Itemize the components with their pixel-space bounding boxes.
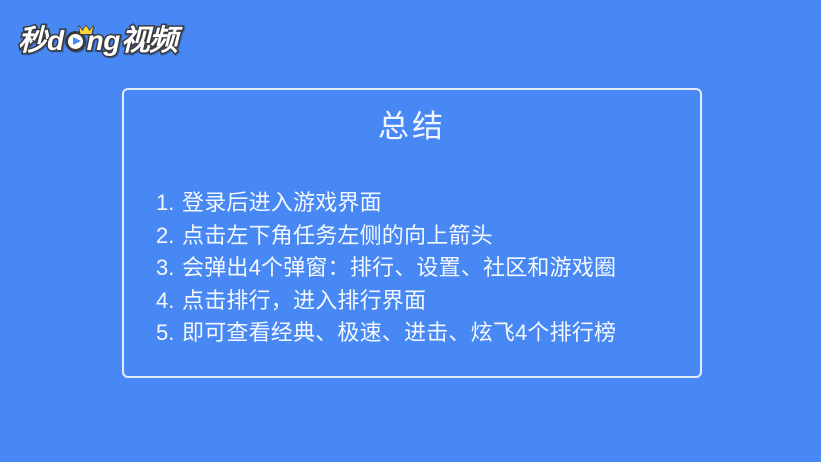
logo-chars-shipin: 视频 bbox=[121, 27, 177, 56]
brand-logo-text: 秒dng视频 bbox=[18, 27, 177, 56]
step-text: 点击排行，进入排行界面 bbox=[182, 285, 426, 318]
step-number: 3. bbox=[156, 252, 182, 285]
crown-icon bbox=[78, 25, 94, 37]
step-text: 登录后进入游戏界面 bbox=[182, 187, 382, 220]
step-text: 即可查看经典、极速、进击、炫飞4个排行榜 bbox=[182, 317, 616, 350]
summary-card: 总结 1. 登录后进入游戏界面 2. 点击左下角任务左侧的向上箭头 3. 会弹出… bbox=[122, 88, 702, 378]
step-number: 1. bbox=[156, 187, 182, 220]
list-item: 2. 点击左下角任务左侧的向上箭头 bbox=[156, 220, 690, 253]
steps-list: 1. 登录后进入游戏界面 2. 点击左下角任务左侧的向上箭头 3. 会弹出4个弹… bbox=[156, 187, 690, 350]
list-item: 4. 点击排行，进入排行界面 bbox=[156, 285, 690, 318]
brand-watermark: 秒dng视频 bbox=[18, 22, 177, 60]
step-text: 点击左下角任务左侧的向上箭头 bbox=[182, 220, 493, 253]
logo-letter-d: d bbox=[47, 27, 64, 55]
step-number: 4. bbox=[156, 285, 182, 318]
page-title: 总结 bbox=[124, 90, 700, 145]
step-text: 会弹出4个弹窗：排行、设置、社区和游戏圈 bbox=[182, 252, 616, 285]
step-number: 2. bbox=[156, 220, 182, 253]
list-item: 5. 即可查看经典、极速、进击、炫飞4个排行榜 bbox=[156, 317, 690, 350]
step-number: 5. bbox=[156, 317, 182, 350]
list-item: 1. 登录后进入游戏界面 bbox=[156, 187, 690, 220]
logo-char-miao: 秒 bbox=[18, 27, 46, 56]
list-item: 3. 会弹出4个弹窗：排行、设置、社区和游戏圈 bbox=[156, 252, 690, 285]
